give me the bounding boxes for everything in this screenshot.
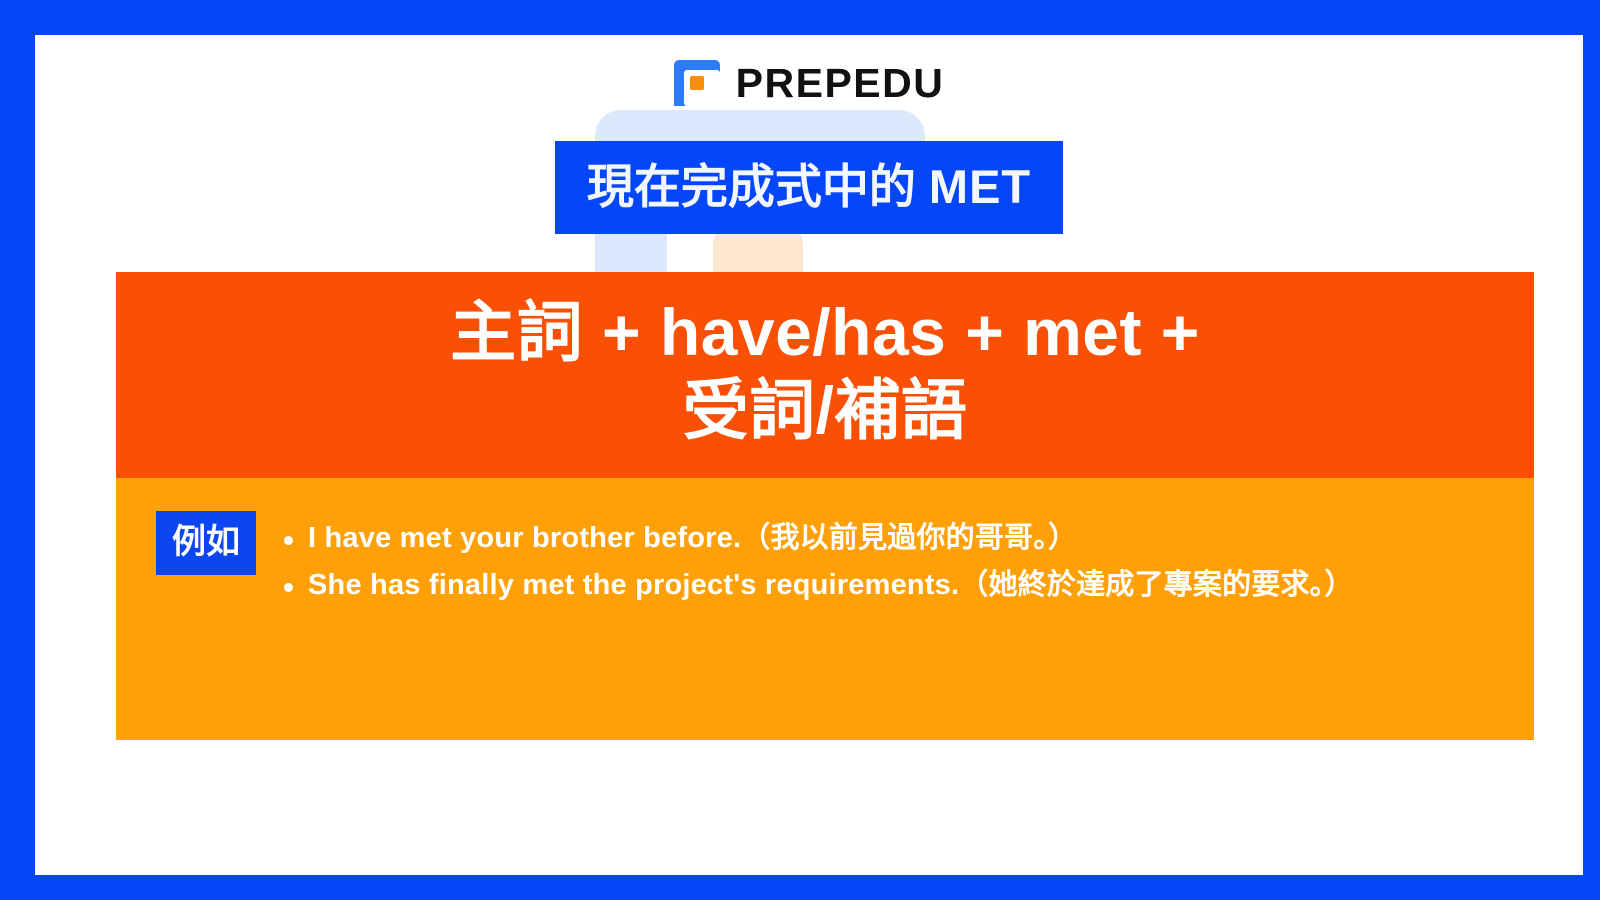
- brand-name: PREPEDU: [736, 63, 945, 104]
- examples-badge: 例如: [156, 511, 256, 575]
- brand-header: PREPEDU: [35, 35, 1583, 113]
- content-canvas: PREP PREPEDU 現在完成式中的 MET 主詞 + have/has +…: [35, 35, 1583, 875]
- list-item: I have met your brother before.（我以前見過你的哥…: [278, 515, 1494, 562]
- examples-list: I have met your brother before.（我以前見過你的哥…: [278, 515, 1494, 609]
- title-banner-wrap: 現在完成式中的 MET: [35, 141, 1583, 234]
- prep-logo-icon: [674, 60, 720, 106]
- logo-accent-dot: [690, 76, 704, 90]
- list-item: She has finally met the project's requir…: [278, 562, 1494, 609]
- logo-stem: [674, 81, 684, 106]
- examples-block: 例如 I have met your brother before.（我以前見過…: [116, 478, 1534, 740]
- page-frame: PREP PREPEDU 現在完成式中的 MET 主詞 + have/has +…: [0, 0, 1600, 900]
- formula-line-2: 受詞/補語: [156, 372, 1494, 450]
- formula-block: 主詞 + have/has + met + 受詞/補語: [116, 272, 1534, 478]
- formula-line-1: 主詞 + have/has + met +: [156, 294, 1494, 372]
- page-title: 現在完成式中的 MET: [555, 141, 1063, 234]
- page-title-en: MET: [929, 160, 1031, 213]
- page-title-zh: 現在完成式中的: [587, 160, 916, 213]
